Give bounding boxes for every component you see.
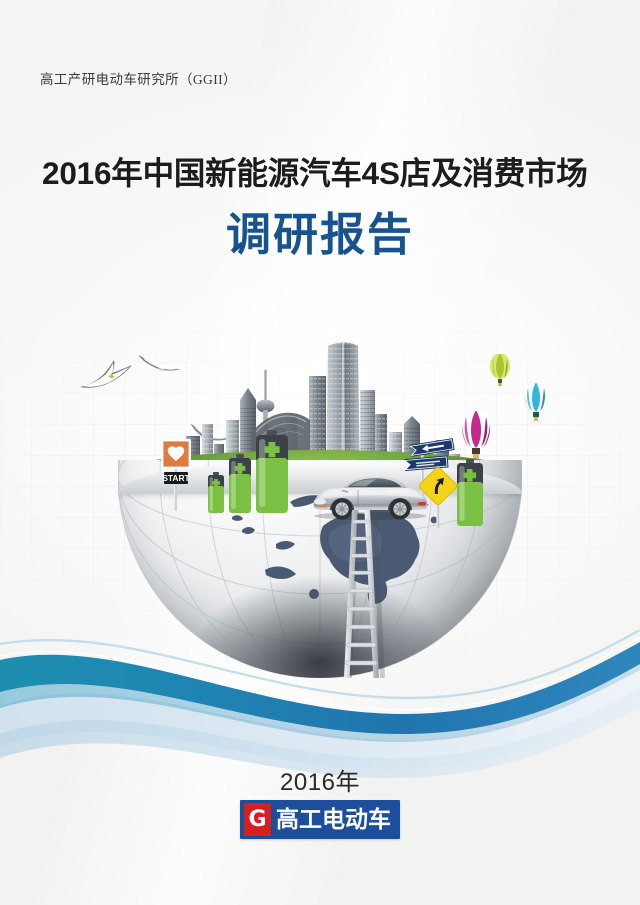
page-title-line1: 2016年中国新能源汽车4S店及消费市场: [42, 148, 602, 194]
balloon-green: [489, 354, 511, 388]
battery-right: [456, 459, 484, 532]
battery-small: [207, 472, 225, 519]
battery-large: [255, 430, 289, 519]
bird-medium: [135, 339, 183, 379]
publication-year: 2016年: [0, 762, 640, 797]
balloon-cyan: [523, 383, 549, 423]
brand-logo[interactable]: G 高工电动车: [240, 800, 400, 839]
bird-large: [78, 356, 134, 396]
logo-brand-text: 高工电动车: [276, 803, 391, 836]
start-sign: START: [159, 439, 193, 516]
start-sign-label: START: [162, 473, 190, 483]
logo-g-mark: G: [244, 803, 271, 836]
report-cover-page: 高工产研电动车研究所（GGII） 2016年中国新能源汽车4S店及消费市场 调研…: [0, 0, 640, 905]
publisher-organization: 高工产研电动车研究所（GGII）: [40, 68, 237, 88]
page-title-line2: 调研报告: [0, 198, 640, 263]
battery-medium: [228, 454, 252, 519]
direction-sign-upper: [409, 438, 454, 457]
